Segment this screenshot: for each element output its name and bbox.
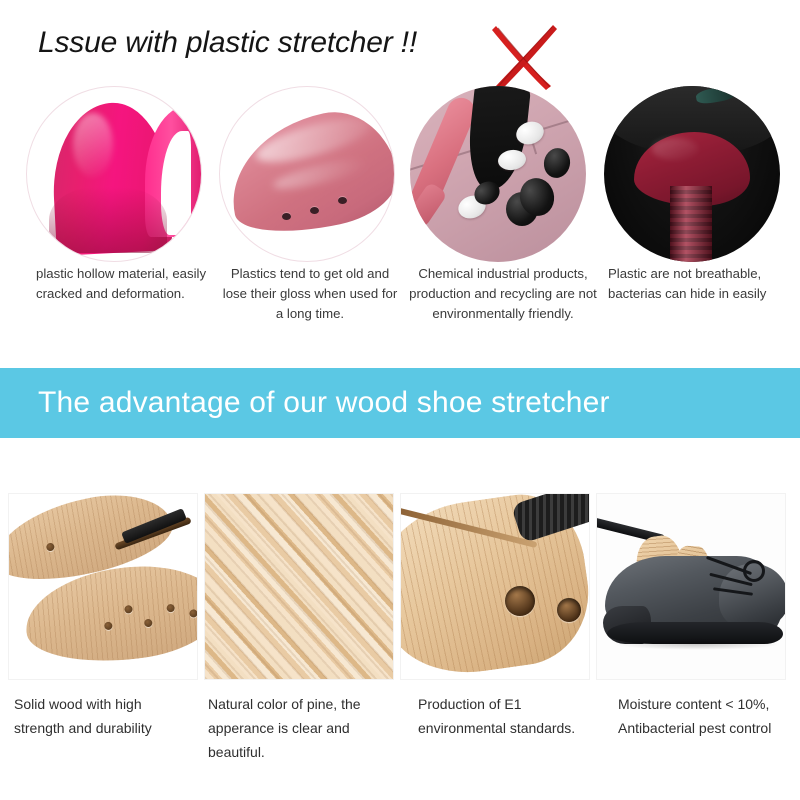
problem-caption-1: Plastics tend to get old and lose their …	[222, 264, 398, 324]
advantage-caption-2: Production of E1 environmental standards…	[418, 692, 603, 740]
problem-image-2	[406, 84, 592, 264]
problem-image-1	[215, 84, 401, 264]
plastic-parts-on-pink-tile-floor-photo	[410, 86, 586, 262]
problem-image-row	[0, 84, 800, 264]
problem-caption-2: Chemical industrial products, production…	[408, 264, 598, 324]
problem-caption-0: plastic hollow material, easily cracked …	[36, 264, 216, 304]
advantage-caption-0: Solid wood with high strength and durabi…	[14, 692, 194, 740]
advantage-caption-1: Natural color of pine, the apperance is …	[208, 692, 403, 764]
problem-caption-row: plastic hollow material, easily cracked …	[0, 264, 800, 334]
two-wooden-shoe-stretcher-forms-photo	[8, 493, 198, 680]
infographic-page: Lssue with plastic stretcher !!	[0, 0, 800, 800]
advantage-caption-row: Solid wood with high strength and durabi…	[0, 692, 800, 756]
faded-pink-glossy-stretcher-toe-photo	[219, 86, 395, 262]
advantage-image-row	[8, 493, 792, 680]
pine-wood-grain-closeup-photo	[204, 493, 394, 680]
wooden-stretcher-inside-dress-shoe-photo	[596, 493, 786, 680]
maroon-plastic-stretcher-in-black-shoe-photo	[604, 86, 780, 262]
problem-image-0	[22, 84, 208, 264]
advantage-banner-title: The advantage of our wood shoe stretcher	[38, 386, 610, 420]
problem-image-3	[600, 84, 786, 264]
problem-caption-3: Plastic are not breathable, bacterias ca…	[608, 264, 790, 304]
wooden-stretcher-toe-with-holes-photo	[400, 493, 590, 680]
problem-heading: Lssue with plastic stretcher !!	[38, 26, 417, 60]
hot-pink-hollow-plastic-stretcher-photo	[26, 86, 202, 262]
advantage-caption-3: Moisture content < 10%, Antibacterial pe…	[618, 692, 800, 740]
advantage-banner: The advantage of our wood shoe stretcher	[0, 368, 800, 438]
red-x-icon	[487, 20, 561, 92]
